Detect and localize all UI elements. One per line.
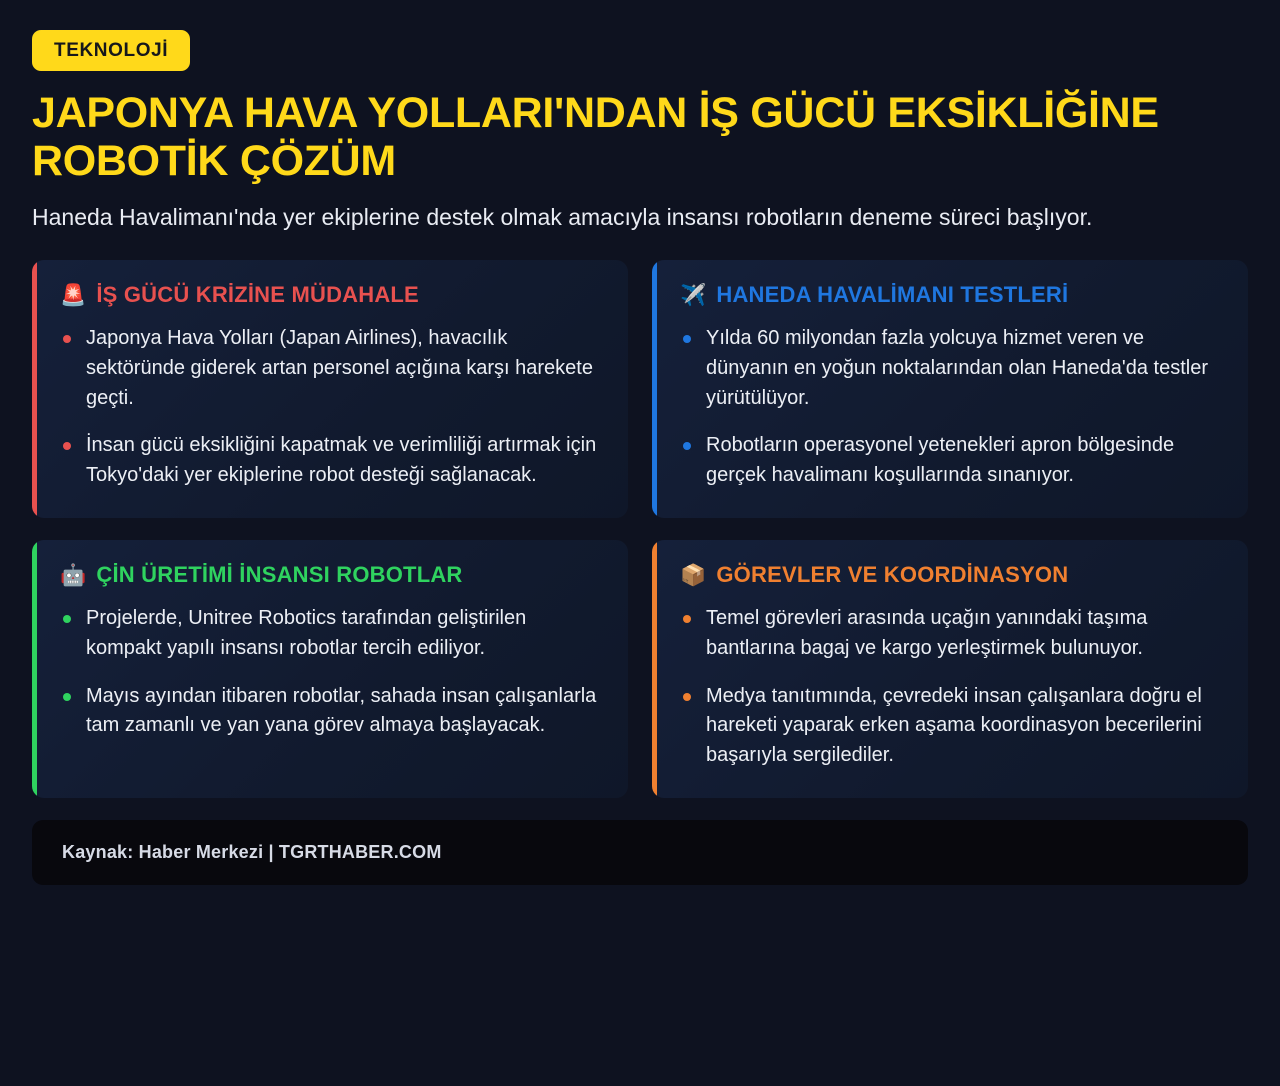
card-bullet-list: Temel görevleri arasında uçağın yanındak…: [680, 604, 1222, 770]
card-title-row: 📦 GÖREVLER VE KOORDİNASYON: [680, 562, 1222, 588]
infographic-page: TEKNOLOJİ JAPONYA HAVA YOLLARI'NDAN İŞ G…: [0, 0, 1280, 1086]
list-item: Robotların operasyonel yetenekleri apron…: [680, 431, 1222, 490]
airplane-icon: ✈️: [680, 285, 706, 306]
rotating-light-icon: 🚨: [60, 285, 86, 306]
card-accent-bar: [32, 540, 37, 798]
card-title-text: İŞ GÜCÜ KRİZİNE MÜDAHALE: [96, 282, 419, 308]
card-accent-bar: [32, 260, 37, 518]
source-footer: Kaynak: Haber Merkezi | TGRTHABER.COM: [32, 820, 1248, 885]
card-cin-uretimi-insansi-robotlar: 🤖 ÇİN ÜRETİMİ İNSANSI ROBOTLAR Projelerd…: [32, 540, 628, 798]
card-haneda-havalimani-testleri: ✈️ HANEDA HAVALİMANI TESTLERİ Yılda 60 m…: [652, 260, 1248, 518]
list-item: Mayıs ayından itibaren robotlar, sahada …: [60, 682, 602, 741]
category-badge: TEKNOLOJİ: [32, 30, 190, 71]
card-grid: 🚨 İŞ GÜCÜ KRİZİNE MÜDAHALE Japonya Hava …: [32, 260, 1248, 798]
page-title: JAPONYA HAVA YOLLARI'NDAN İŞ GÜCÜ EKSİKL…: [32, 89, 1212, 185]
card-title-text: HANEDA HAVALİMANI TESTLERİ: [716, 282, 1068, 308]
list-item: Japonya Hava Yolları (Japan Airlines), h…: [60, 324, 602, 413]
card-bullet-list: Japonya Hava Yolları (Japan Airlines), h…: [60, 324, 602, 490]
card-title-text: GÖREVLER VE KOORDİNASYON: [716, 562, 1068, 588]
list-item: Medya tanıtımında, çevredeki insan çalış…: [680, 682, 1222, 771]
card-bullet-list: Yılda 60 milyondan fazla yolcuya hizmet …: [680, 324, 1222, 490]
card-title-row: ✈️ HANEDA HAVALİMANI TESTLERİ: [680, 282, 1222, 308]
list-item: İnsan gücü eksikliğini kapatmak ve verim…: [60, 431, 602, 490]
card-accent-bar: [652, 260, 657, 518]
card-gorevler-ve-koordinasyon: 📦 GÖREVLER VE KOORDİNASYON Temel görevle…: [652, 540, 1248, 798]
source-text: Kaynak: Haber Merkezi | TGRTHABER.COM: [62, 842, 442, 862]
list-item: Temel görevleri arasında uçağın yanındak…: [680, 604, 1222, 663]
package-icon: 📦: [680, 565, 706, 586]
list-item: Projelerde, Unitree Robotics tarafından …: [60, 604, 602, 663]
card-title-text: ÇİN ÜRETİMİ İNSANSI ROBOTLAR: [96, 562, 462, 588]
list-item: Yılda 60 milyondan fazla yolcuya hizmet …: [680, 324, 1222, 413]
card-title-row: 🚨 İŞ GÜCÜ KRİZİNE MÜDAHALE: [60, 282, 602, 308]
card-bullet-list: Projelerde, Unitree Robotics tarafından …: [60, 604, 602, 740]
card-is-gucu-krizine-mudahale: 🚨 İŞ GÜCÜ KRİZİNE MÜDAHALE Japonya Hava …: [32, 260, 628, 518]
card-title-row: 🤖 ÇİN ÜRETİMİ İNSANSI ROBOTLAR: [60, 562, 602, 588]
page-subtitle: Haneda Havalimanı'nda yer ekiplerine des…: [32, 201, 1192, 234]
kicker-row: TEKNOLOJİ: [32, 30, 1248, 71]
card-accent-bar: [652, 540, 657, 798]
robot-icon: 🤖: [60, 565, 86, 586]
